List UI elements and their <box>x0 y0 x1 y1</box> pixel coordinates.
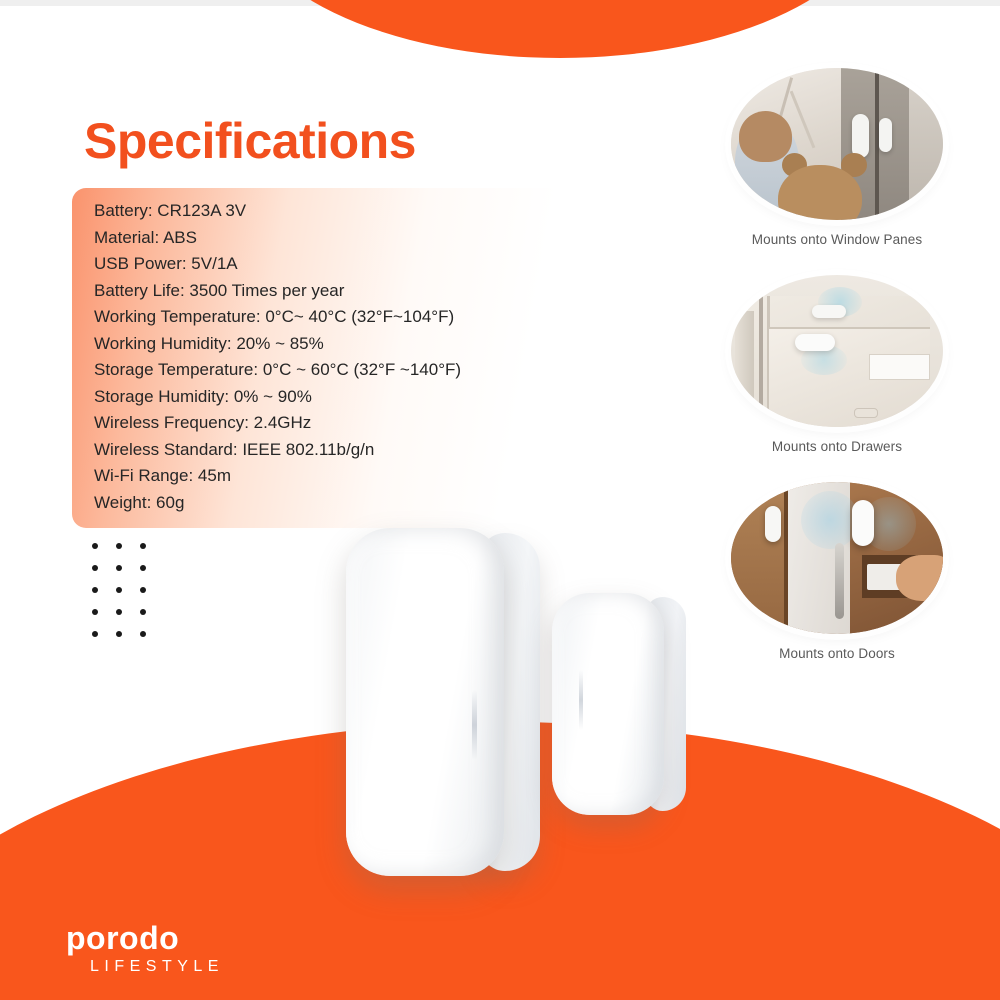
dot <box>92 587 98 593</box>
spec-line: Battery Life: 3500 Times per year <box>94 278 652 305</box>
window-pane-photo <box>731 68 943 220</box>
brand-logo: porodo LIFESTYLE <box>66 922 224 975</box>
specifications-panel: Battery: CR123A 3V Material: ABS USB Pow… <box>72 188 652 528</box>
spec-line: Wireless Frequency: 2.4GHz <box>94 410 652 437</box>
dot <box>116 543 122 549</box>
spec-line: Battery: CR123A 3V <box>94 198 652 225</box>
spec-line: Wi-Fi Range: 45m <box>94 463 652 490</box>
spec-line: Material: ABS <box>94 225 652 252</box>
drawer-photo <box>731 275 943 427</box>
dot <box>140 609 146 615</box>
use-case-doors: Mounts onto Doors <box>712 482 962 661</box>
spec-line: USB Power: 5V/1A <box>94 251 652 278</box>
spec-line: Storage Humidity: 0% ~ 90% <box>94 384 652 411</box>
use-case-drawers: Mounts onto Drawers <box>712 275 962 454</box>
sensor-main-body <box>346 528 504 876</box>
spec-line: Wireless Standard: IEEE 802.11b/g/n <box>94 437 652 464</box>
sensor-magnet-groove <box>579 670 583 730</box>
dot <box>92 609 98 615</box>
use-case-caption: Mounts onto Doors <box>712 646 962 661</box>
dot <box>116 631 122 637</box>
spec-line: Storage Temperature: 0°C ~ 60°C (32°F ~1… <box>94 357 652 384</box>
brand-name: porodo <box>66 922 224 954</box>
door-photo <box>731 482 943 634</box>
page-title: Specifications <box>84 112 416 170</box>
use-case-thumbnail-list: Mounts onto Window Panes Mount <box>712 68 962 689</box>
dot <box>92 565 98 571</box>
dot <box>92 631 98 637</box>
dot <box>140 631 146 637</box>
dot <box>140 543 146 549</box>
decorative-dot-grid <box>92 543 164 653</box>
dot <box>116 609 122 615</box>
use-case-caption: Mounts onto Drawers <box>712 439 962 454</box>
decorative-orange-blob-top <box>240 0 880 58</box>
dot <box>116 587 122 593</box>
use-case-window-panes: Mounts onto Window Panes <box>712 68 962 247</box>
dot <box>140 587 146 593</box>
spec-line: Working Temperature: 0°C~ 40°C (32°F~104… <box>94 304 652 331</box>
product-image-door-window-sensor <box>330 505 710 905</box>
product-spec-page: Specifications Battery: CR123A 3V Materi… <box>0 0 1000 1000</box>
dot <box>140 565 146 571</box>
brand-tagline: LIFESTYLE <box>90 959 224 975</box>
sensor-main-groove <box>472 690 477 760</box>
spec-line: Working Humidity: 20% ~ 85% <box>94 331 652 358</box>
use-case-caption: Mounts onto Window Panes <box>712 232 962 247</box>
sensor-magnet <box>552 593 664 815</box>
dot <box>92 543 98 549</box>
dot <box>116 565 122 571</box>
